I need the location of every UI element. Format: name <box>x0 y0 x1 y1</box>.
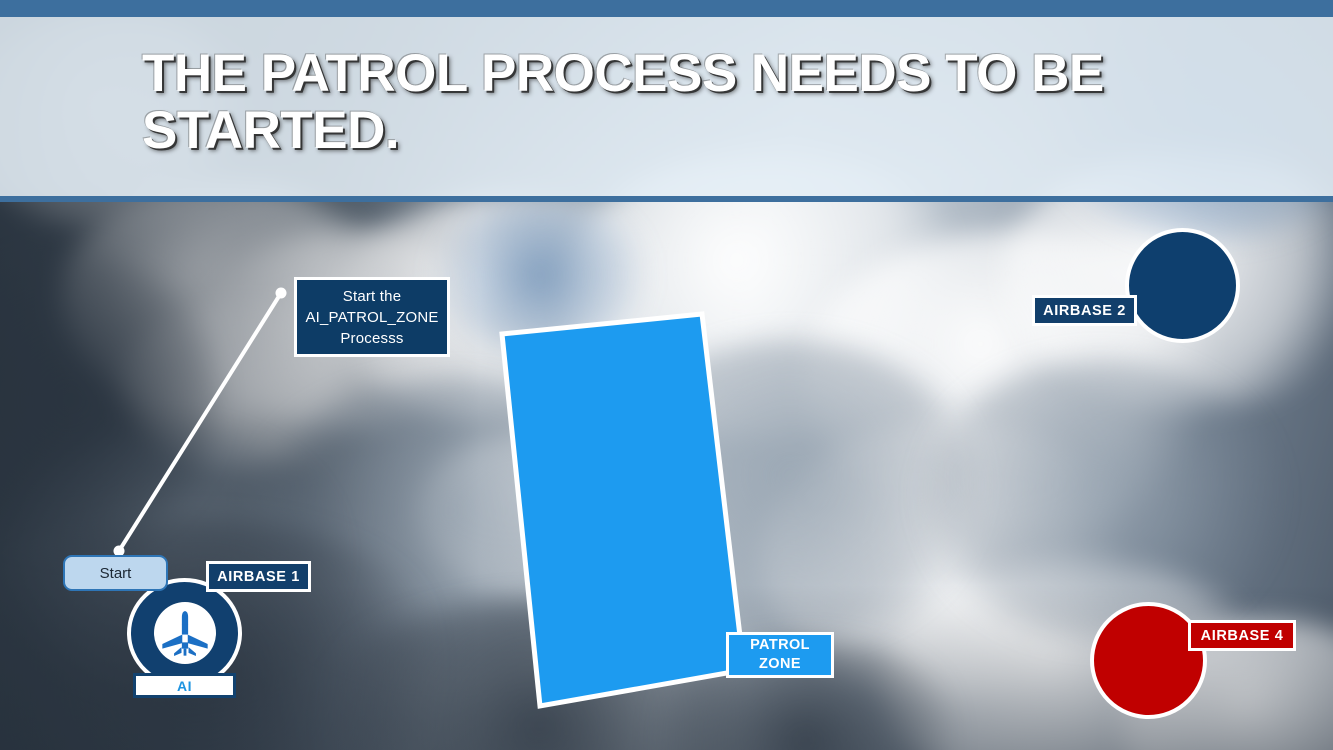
ai-label: AI <box>133 673 236 698</box>
fighter-jet-icon <box>154 602 216 664</box>
start-button[interactable]: Start <box>63 555 168 591</box>
slide-canvas: THE PATROL PROCESS NEEDS TO BE STARTED. <box>0 0 1333 750</box>
airbase-2-marker[interactable] <box>1125 228 1240 343</box>
start-process-callout[interactable]: Start the AI_PATROL_ZONE Processs <box>294 277 450 357</box>
airbase-2-label[interactable]: AIRBASE 2 <box>1032 295 1137 326</box>
airbase-1-ai-marker[interactable] <box>127 578 242 688</box>
airbase-1-label[interactable]: AIRBASE 1 <box>206 561 311 592</box>
patrol-zone-label[interactable]: PATROL ZONE <box>726 632 834 678</box>
airbase-4-label[interactable]: AIRBASE 4 <box>1188 620 1296 651</box>
